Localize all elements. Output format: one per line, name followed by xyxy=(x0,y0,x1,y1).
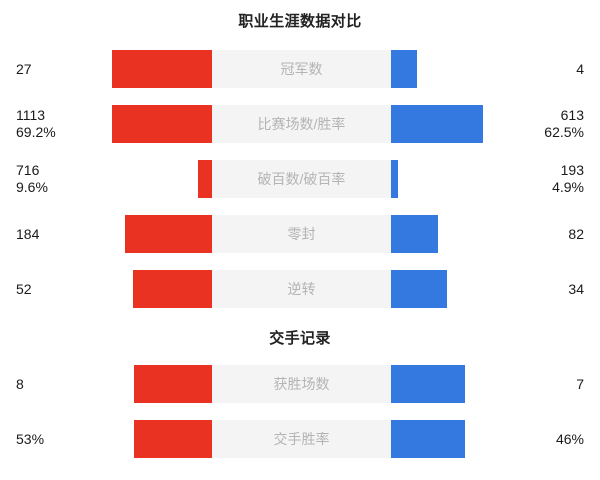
right-bar-h2h-wins xyxy=(391,365,465,403)
right-value-whitewash: 82 xyxy=(498,215,584,253)
left-primary-value: 53% xyxy=(16,431,44,448)
right-value-champions: 4 xyxy=(498,50,584,88)
left-primary-value: 716 xyxy=(16,162,39,179)
left-secondary-value: 69.2% xyxy=(16,124,56,141)
right-value-matches-winrate: 613 62.5% xyxy=(498,105,584,143)
career-section-title: 职业生涯数据对比 xyxy=(0,10,600,31)
left-bar-h2h-winrate xyxy=(134,420,212,458)
right-value-comeback: 34 xyxy=(498,270,584,308)
stat-row-whitewash: 184 零封 82 xyxy=(0,215,600,253)
stat-label-whitewash: 零封 xyxy=(212,215,391,253)
stat-row-matches-winrate: 1113 69.2% 比赛场数/胜率 613 62.5% xyxy=(0,105,600,143)
right-bar-h2h-winrate xyxy=(391,420,465,458)
left-value-h2h-winrate: 53% xyxy=(16,420,102,458)
h2h-section-title: 交手记录 xyxy=(0,327,600,348)
stat-row-comeback: 52 逆转 34 xyxy=(0,270,600,308)
left-value-h2h-wins: 8 xyxy=(16,365,102,403)
right-bar-comeback xyxy=(391,270,447,308)
left-bar-whitewash xyxy=(125,215,212,253)
stats-comparison-chart: 职业生涯数据对比 27 冠军数 4 1113 69.2% 比赛场数/胜率 613… xyxy=(0,0,600,480)
stat-row-centuries: 716 9.6% 破百数/破百率 193 4.9% xyxy=(0,160,600,198)
left-value-centuries: 716 9.6% xyxy=(16,160,102,198)
left-primary-value: 184 xyxy=(16,226,39,243)
right-bar-matches-winrate xyxy=(391,105,483,143)
right-primary-value: 193 xyxy=(561,162,584,179)
left-bar-h2h-wins xyxy=(134,365,212,403)
stat-row-champions: 27 冠军数 4 xyxy=(0,50,600,88)
left-value-whitewash: 184 xyxy=(16,215,102,253)
left-primary-value: 52 xyxy=(16,281,32,298)
left-bar-centuries xyxy=(198,160,212,198)
stat-label-h2h-wins: 获胜场数 xyxy=(212,365,391,403)
right-value-centuries: 193 4.9% xyxy=(498,160,584,198)
right-primary-value: 34 xyxy=(568,281,584,298)
stat-label-matches-winrate: 比赛场数/胜率 xyxy=(212,105,391,143)
left-primary-value: 27 xyxy=(16,61,32,78)
left-bar-champions xyxy=(112,50,212,88)
right-primary-value: 4 xyxy=(576,61,584,78)
right-bar-champions xyxy=(391,50,417,88)
stat-row-h2h-winrate: 53% 交手胜率 46% xyxy=(0,420,600,458)
stat-label-comeback: 逆转 xyxy=(212,270,391,308)
left-primary-value: 1113 xyxy=(16,107,45,124)
left-primary-value: 8 xyxy=(16,376,24,393)
right-bar-whitewash xyxy=(391,215,438,253)
left-bar-comeback xyxy=(133,270,212,308)
stat-label-h2h-winrate: 交手胜率 xyxy=(212,420,391,458)
stat-row-h2h-wins: 8 获胜场数 7 xyxy=(0,365,600,403)
right-secondary-value: 62.5% xyxy=(544,124,584,141)
left-value-comeback: 52 xyxy=(16,270,102,308)
left-value-matches-winrate: 1113 69.2% xyxy=(16,105,102,143)
right-primary-value: 46% xyxy=(556,431,584,448)
stat-label-champions: 冠军数 xyxy=(212,50,391,88)
left-bar-matches-winrate xyxy=(112,105,212,143)
left-secondary-value: 9.6% xyxy=(16,179,48,196)
stat-label-centuries: 破百数/破百率 xyxy=(212,160,391,198)
right-value-h2h-wins: 7 xyxy=(498,365,584,403)
right-bar-centuries xyxy=(391,160,398,198)
right-primary-value: 613 xyxy=(561,107,584,124)
right-primary-value: 7 xyxy=(576,376,584,393)
right-secondary-value: 4.9% xyxy=(552,179,584,196)
right-primary-value: 82 xyxy=(568,226,584,243)
right-value-h2h-winrate: 46% xyxy=(498,420,584,458)
left-value-champions: 27 xyxy=(16,50,102,88)
